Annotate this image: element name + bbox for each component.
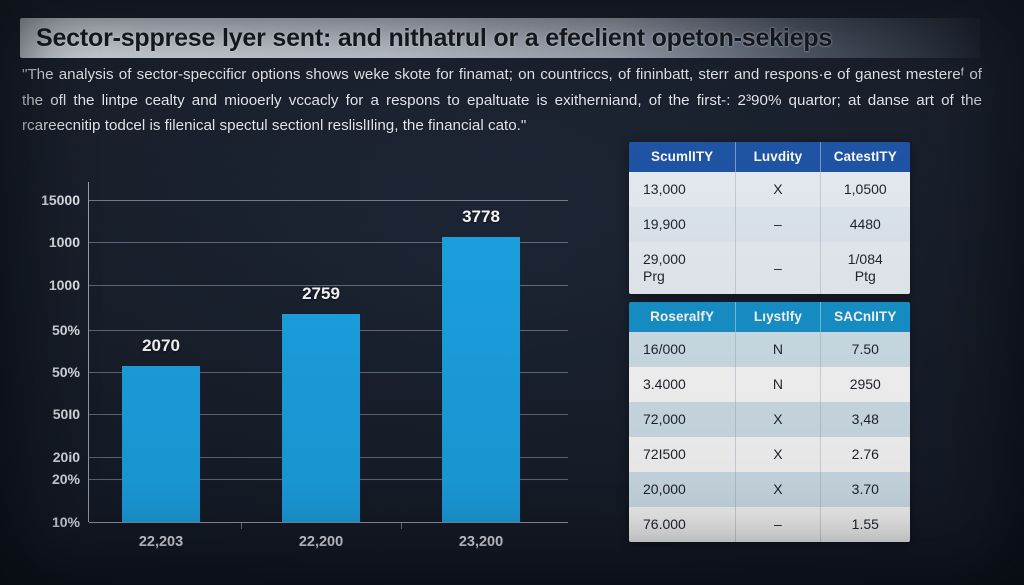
slide-canvas: Sector-spprese lyer sent: and nithatrul … (0, 0, 1024, 585)
table-cell: 4480 (820, 207, 910, 242)
table-bottom-element: RoseralfYLıystlfySACnIITY 16/000N7.503.4… (629, 302, 910, 542)
table-header-row: ScumlITYLuvdityCatestITY (629, 142, 910, 172)
y-axis-tick-label: 20i0 (18, 449, 80, 465)
y-axis-tick-label: 10% (18, 514, 80, 530)
column-header[interactable]: SACnIITY (820, 302, 910, 332)
table-cell: 3.4000 (629, 367, 736, 402)
table-cell: 3,48 (820, 402, 910, 437)
table-cell: X (736, 402, 820, 437)
bar-chart: 150001000100050%50%50I020i020%10% 207022… (14, 182, 574, 542)
table-cell: 72,000 (629, 402, 736, 437)
table-row: 72I500X2.76 (629, 437, 910, 472)
column-header[interactable]: RoseralfY (629, 302, 736, 332)
column-header[interactable]: CatestITY (820, 142, 910, 172)
table-cell: X (736, 172, 820, 207)
table-cell: 3.70 (820, 472, 910, 507)
table-cell: – (736, 207, 820, 242)
table-cell: 2950 (820, 367, 910, 402)
table-cell: 1.55 (820, 507, 910, 542)
chart-gridline (89, 200, 568, 201)
table-header-row: RoseralfYLıystlfySACnIITY (629, 302, 910, 332)
bar-value-label: 2070 (142, 336, 180, 356)
table-cell: 1/084 Ptg (820, 242, 910, 294)
table-cell: 20,000 (629, 472, 736, 507)
y-axis-tick-label: 50% (18, 364, 80, 380)
chart-plot-area: 207022,203275922,200377823,200 (88, 182, 568, 522)
table-cell: 13,000 (629, 172, 736, 207)
x-axis-tick (401, 522, 402, 529)
table-top-element: ScumlITYLuvdityCatestITY 13,000X1,050019… (629, 142, 910, 294)
table-cell: N (736, 332, 820, 367)
x-axis-tick-label: 23,200 (459, 534, 503, 550)
y-axis-tick-label: 20% (18, 471, 80, 487)
table-row: 76.000–1.55 (629, 507, 910, 542)
table-cell: X (736, 472, 820, 507)
table-row: 72,000X3,48 (629, 402, 910, 437)
column-header[interactable]: Luvdity (736, 142, 820, 172)
chart-bar[interactable] (282, 314, 360, 522)
table-row: 29,000 Prg–1/084 Ptg (629, 242, 910, 294)
chart-bar[interactable] (122, 366, 200, 522)
table-cell: 2.76 (820, 437, 910, 472)
column-header[interactable]: Lıystlfy (736, 302, 820, 332)
bar-value-label: 2759 (302, 284, 340, 304)
table-cell: 29,000 Prg (629, 242, 736, 294)
table-row: 20,000X3.70 (629, 472, 910, 507)
y-axis-tick-label: 1000 (18, 277, 80, 293)
table-row: 16/000N7.50 (629, 332, 910, 367)
page-title: Sector-spprese lyer sent: and nithatrul … (36, 24, 966, 53)
table-body: 13,000X1,050019,900–448029,000 Prg–1/084… (629, 172, 910, 294)
x-axis-tick-label: 22,200 (299, 534, 343, 550)
column-header[interactable]: ScumlITY (629, 142, 736, 172)
y-axis-tick-label: 50I0 (18, 406, 80, 422)
table-cell: 19,900 (629, 207, 736, 242)
table-cell: 1,0500 (820, 172, 910, 207)
chart-y-axis: 150001000100050%50%50I020i020%10% (14, 182, 80, 542)
bar-value-label: 3778 (462, 207, 500, 227)
y-axis-tick-label: 1000 (18, 234, 80, 250)
table-cell: 76.000 (629, 507, 736, 542)
table-cell: 72I500 (629, 437, 736, 472)
table-row: 13,000X1,0500 (629, 172, 910, 207)
table-cell: – (736, 242, 820, 294)
body-paragraph: "The analysis of sector-speccificr optio… (22, 62, 982, 139)
table-cell: – (736, 507, 820, 542)
data-table-secondary: RoseralfYLıystlfySACnIITY 16/000N7.503.4… (629, 302, 910, 542)
table-cell: 7.50 (820, 332, 910, 367)
y-axis-tick-label: 15000 (18, 192, 80, 208)
table-cell: 16/000 (629, 332, 736, 367)
table-row: 3.4000N2950 (629, 367, 910, 402)
chart-bar[interactable] (442, 237, 520, 522)
y-axis-tick-label: 50% (18, 322, 80, 338)
table-cell: X (736, 437, 820, 472)
table-cell: N (736, 367, 820, 402)
table-body: 16/000N7.503.4000N295072,000X3,4872I500X… (629, 332, 910, 542)
chart-gridline (89, 522, 568, 523)
data-table-primary: ScumlITYLuvdityCatestITY 13,000X1,050019… (629, 142, 910, 294)
table-row: 19,900–4480 (629, 207, 910, 242)
x-axis-tick (241, 522, 242, 529)
x-axis-tick-label: 22,203 (139, 534, 183, 550)
